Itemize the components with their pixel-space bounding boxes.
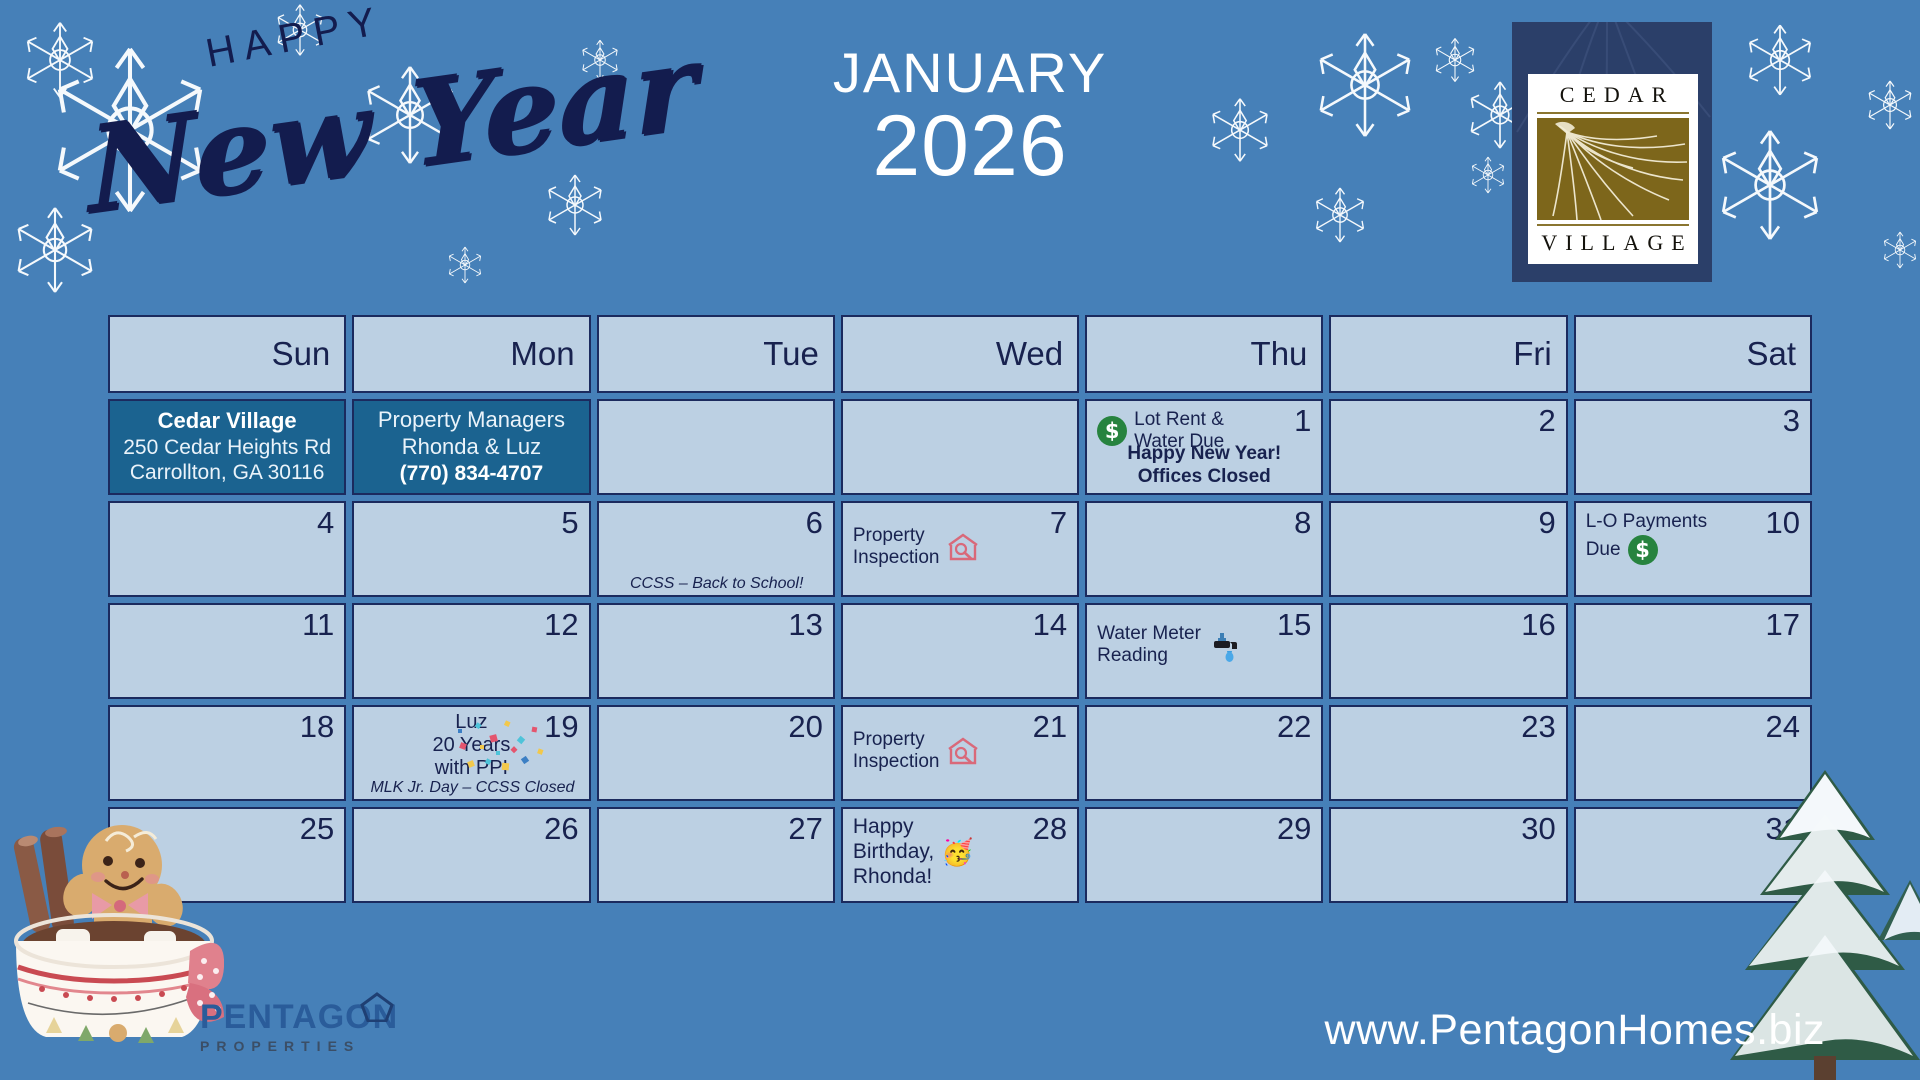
day-event-text-2: Due: [1586, 539, 1621, 561]
day-cell-14[interactable]: 14: [841, 603, 1079, 699]
day-event-text: PropertyInspection: [853, 729, 940, 774]
managers-label: Property Managers: [378, 407, 565, 434]
day-event: PropertyInspection: [853, 729, 981, 774]
day-cell-29[interactable]: 29: [1085, 807, 1323, 903]
happy-new-year-art: HAPPY New Year: [40, 10, 660, 300]
day-cell-12[interactable]: 12: [352, 603, 590, 699]
day-number: 23: [1521, 711, 1555, 744]
house-inspection-icon: [946, 532, 980, 562]
day-cell-26[interactable]: 26: [352, 807, 590, 903]
website-url[interactable]: www.PentagonHomes.biz: [1325, 1006, 1825, 1055]
pentagon-house-icon: [360, 992, 394, 1022]
weekday-header-mon: Mon: [352, 315, 590, 393]
logo-word-cedar: CEDAR: [1552, 82, 1675, 108]
day-cell-1[interactable]: 1 $ Lot Rent &Water Due Happy New Year!O…: [1085, 399, 1323, 495]
property-managers-cell: Property Managers Rhonda & Luz (770) 834…: [352, 399, 590, 495]
day-number: 9: [1538, 507, 1555, 540]
day-event-note: MLK Jr. Day – CCSS Closed: [360, 779, 584, 797]
day-number: 1: [1294, 405, 1311, 438]
day-cell-10[interactable]: 10 L-O Payments Due $: [1574, 501, 1812, 597]
weekday-header-tue: Tue: [597, 315, 835, 393]
day-number: 4: [317, 507, 334, 540]
day-number: 24: [1766, 711, 1800, 744]
day-event: PropertyInspection: [853, 525, 981, 570]
day-cell-7[interactable]: 7 PropertyInspection: [841, 501, 1079, 597]
day-number: 15: [1277, 609, 1311, 642]
day-event: Happy Birthday, Rhonda! 🥳: [853, 815, 974, 889]
day-event-text: PropertyInspection: [853, 525, 940, 570]
year-label: 2026: [760, 101, 1180, 191]
day-cell-19[interactable]: 19 Luz 20 Years with PPI: [352, 705, 590, 801]
day-cell-4[interactable]: 4: [108, 501, 346, 597]
logo-divider-top: [1537, 112, 1689, 114]
day-event: L-O Payments Due $: [1586, 511, 1707, 565]
day-number: 17: [1766, 609, 1800, 642]
pine-needle-emblem: [1537, 118, 1689, 220]
dollar-circle-icon: $: [1097, 416, 1127, 446]
day-number: 8: [1294, 507, 1311, 540]
day-cell-3[interactable]: 3: [1574, 399, 1812, 495]
day-number: 2: [1538, 405, 1555, 438]
community-address-cell: Cedar Village 250 Cedar Heights Rd Carro…: [108, 399, 346, 495]
day-cell-30[interactable]: 30: [1329, 807, 1567, 903]
logo-divider-bottom: [1537, 224, 1689, 226]
managers-names: Rhonda & Luz: [402, 434, 541, 461]
day-cell-28[interactable]: 28 Happy Birthday, Rhonda! 🥳: [841, 807, 1079, 903]
house-inspection-icon: [946, 736, 980, 766]
day-cell-22[interactable]: 22: [1085, 705, 1323, 801]
day-number: 13: [788, 609, 822, 642]
day-cell-blank[interactable]: [841, 399, 1079, 495]
day-number: 21: [1033, 711, 1067, 744]
day-cell-11[interactable]: 11: [108, 603, 346, 699]
day-number: 14: [1033, 609, 1067, 642]
managers-phone: (770) 834-4707: [400, 461, 544, 487]
day-number: 29: [1277, 813, 1311, 846]
month-year-title: JANUARY 2026: [760, 45, 1180, 191]
cedar-village-logo: CEDAR: [1512, 22, 1712, 282]
logo-word-village: VILLAGE: [1533, 230, 1692, 256]
day-number: 7: [1050, 507, 1067, 540]
day-cell-8[interactable]: 8: [1085, 501, 1323, 597]
day-cell-13[interactable]: 13: [597, 603, 835, 699]
weekday-header-wed: Wed: [841, 315, 1079, 393]
day-number: 27: [788, 813, 822, 846]
new-year-word: New Year: [86, 15, 698, 240]
day-event-note: CCSS – Back to School!: [605, 575, 829, 593]
day-number: 3: [1783, 405, 1800, 438]
water-faucet-icon: [1208, 630, 1242, 660]
confetti-icon: [450, 715, 550, 777]
day-cell-2[interactable]: 2: [1329, 399, 1567, 495]
day-cell-9[interactable]: 9: [1329, 501, 1567, 597]
day-cell-16[interactable]: 16: [1329, 603, 1567, 699]
day-cell-15[interactable]: 15 Water MeterReading: [1085, 603, 1323, 699]
day-cell-23[interactable]: 23: [1329, 705, 1567, 801]
pentagon-properties-logo: PENTAGON PROPERTIES: [200, 1000, 440, 1064]
community-name: Cedar Village: [158, 408, 297, 435]
day-event-text: Happy Birthday, Rhonda!: [853, 815, 934, 889]
day-number: 5: [561, 507, 578, 540]
community-city-state-zip: Carrollton, GA 30116: [130, 460, 325, 486]
day-cell-5[interactable]: 5: [352, 501, 590, 597]
day-number: 12: [544, 609, 578, 642]
day-number: 25: [300, 813, 334, 846]
weekday-header-sun: Sun: [108, 315, 346, 393]
day-event-highlight: Happy New Year!Offices Closed: [1087, 443, 1321, 489]
day-number: 28: [1033, 813, 1067, 846]
day-number: 11: [302, 609, 334, 642]
day-cell-17[interactable]: 17: [1574, 603, 1812, 699]
day-number: 26: [544, 813, 578, 846]
weekday-header-fri: Fri: [1329, 315, 1567, 393]
party-face-icon: 🥳: [941, 839, 973, 865]
day-number: 22: [1277, 711, 1311, 744]
weekday-header-sat: Sat: [1574, 315, 1812, 393]
cedar-village-logo-inner: CEDAR: [1528, 74, 1698, 264]
month-label: JANUARY: [760, 45, 1180, 101]
day-cell-6[interactable]: 6 CCSS – Back to School!: [597, 501, 835, 597]
dollar-circle-icon: $: [1628, 535, 1658, 565]
day-cell-blank[interactable]: [597, 399, 835, 495]
cocoa-mug-gingerbread-decoration: [0, 745, 224, 1045]
calendar-page: HAPPY New Year JANUARY 2026 ▼ CEDAR: [0, 0, 1920, 1080]
pentagon-subtitle: PROPERTIES: [200, 1038, 440, 1054]
day-number: 18: [300, 711, 334, 744]
day-cell-27[interactable]: 27: [597, 807, 835, 903]
weekday-header-thu: Thu: [1085, 315, 1323, 393]
day-number: 16: [1521, 609, 1555, 642]
day-number: 30: [1521, 813, 1555, 846]
day-event: Water MeterReading: [1097, 623, 1242, 668]
day-event-text: L-O Payments: [1586, 511, 1707, 532]
day-cell-21[interactable]: 21 PropertyInspection: [841, 705, 1079, 801]
day-number: 20: [788, 711, 822, 744]
calendar-grid: Sun Mon Tue Wed Thu Fri Sat Cedar Villag…: [108, 315, 1812, 903]
day-event-text: Water MeterReading: [1097, 623, 1201, 668]
day-number: 6: [806, 507, 823, 540]
day-number: 10: [1766, 507, 1800, 540]
day-cell-20[interactable]: 20: [597, 705, 835, 801]
community-street: 250 Cedar Heights Rd: [123, 435, 331, 461]
